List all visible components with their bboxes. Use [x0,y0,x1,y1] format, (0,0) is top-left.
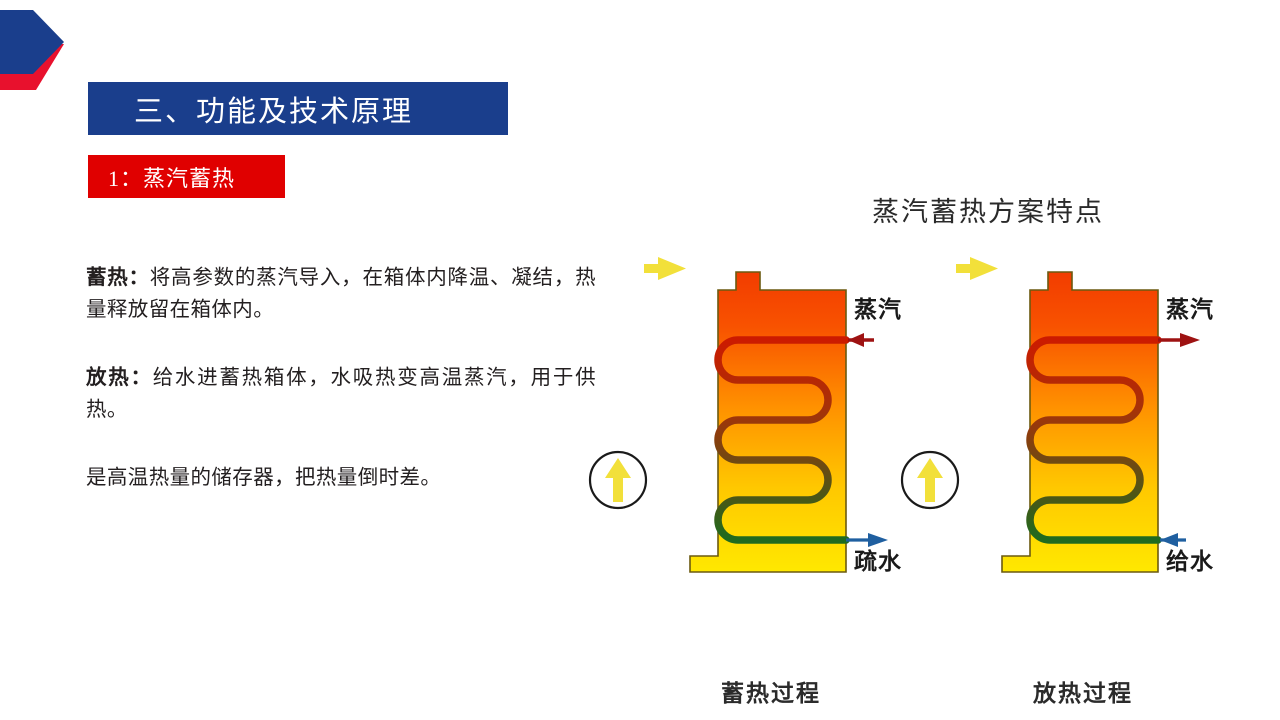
drain-port-label-charge: 疏水 [854,542,902,576]
diagram-panel: 蒸汽蓄热方案特点 [596,190,1280,670]
subsection-chip: 1：蒸汽蓄热 [88,155,285,198]
pump-icon-charge [590,452,646,508]
paragraph-release-text: 给水进蓄热箱体，水吸热变高温蒸汽，用于供热。 [86,367,596,421]
process-caption-charge: 蓄热过程 [656,674,886,708]
process-caption-discharge: 放热过程 [968,674,1198,708]
diagram-title: 蒸汽蓄热方案特点 [596,190,1280,229]
subsection-chip-text: 1：蒸汽蓄热 [88,161,235,193]
body-copy: 蓄热：将高参数的蒸汽导入，在箱体内降温、凝结，热量释放留在箱体内。 放热：给水进… [86,262,596,494]
pipe-flow-arrow-icon [956,257,998,280]
steam-port-label-discharge: 蒸汽 [1166,290,1214,324]
paragraph-storage-lead: 蓄热： [86,267,150,289]
paragraph-storage-text: 将高参数的蒸汽导入，在箱体内降温、凝结，热量释放留在箱体内。 [86,267,596,321]
diagram-unit-charge: 蒸汽 疏水 蓄热过程 [596,250,926,670]
section-title-text: 三、功能及技术原理 [88,88,413,130]
steam-port-label-charge: 蒸汽 [854,290,902,324]
paragraph-release-lead: 放热： [86,367,153,389]
paragraph-summary: 是高温热量的储存器，把热量倒时差。 [86,462,596,494]
logo-blue-chevron-icon [0,10,64,74]
paragraph-release: 放热：给水进蓄热箱体，水吸热变高温蒸汽，用于供热。 [86,362,596,426]
paragraph-summary-text: 是高温热量的储存器，把热量倒时差。 [86,467,441,489]
steam-port-arrow-charge [848,333,874,347]
feedwater-port-label-discharge: 给水 [1166,542,1214,576]
section-title-bar: 三、功能及技术原理 [88,82,508,135]
steam-port-arrow-discharge [1158,333,1200,347]
diagram-unit-discharge: 蒸汽 给水 放热过程 [908,250,1238,670]
paragraph-storage: 蓄热：将高参数的蒸汽导入，在箱体内降温、凝结，热量释放留在箱体内。 [86,262,596,326]
pump-icon-discharge [902,452,958,508]
pipe-flow-arrow-icon [644,257,686,280]
